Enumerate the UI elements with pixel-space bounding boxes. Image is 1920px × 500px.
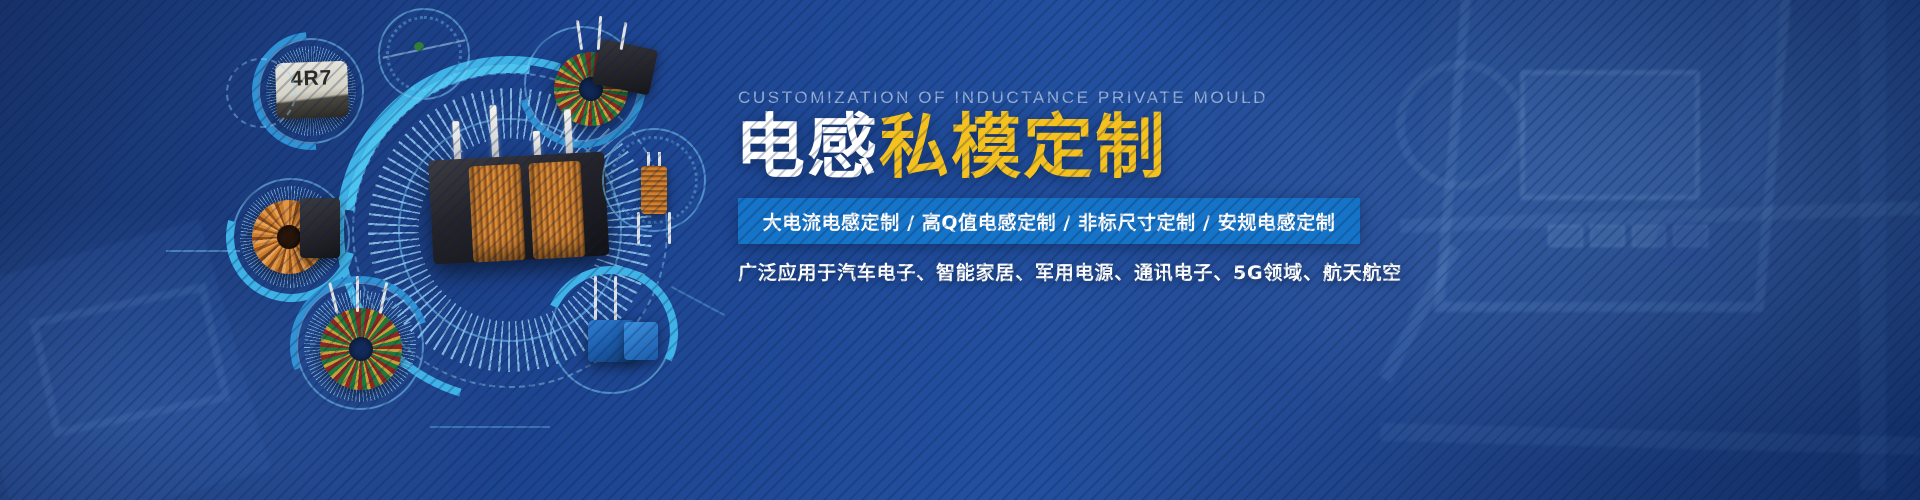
product-rod-core-inductor [641,152,667,226]
rod-copper-coil [641,166,667,214]
feature-bar: 大电流电感定制 / 高Q值电感定制 / 非标尺寸定制 / 安规电感定制 [738,198,1360,244]
smd-inductor-label: 4R7 [290,66,332,91]
toroid-clamp-block [300,198,340,258]
banner-description: 广泛应用于汽车电子、智能家居、军用电源、通讯电子、5G领域、航天航空 [738,258,1402,285]
banner-headline: 电感私模定制 [735,112,1167,182]
hud-trace [166,250,240,252]
blue-inductor-secondary [624,322,658,360]
feature-bar-text: 大电流电感定制 / 高Q值电感定制 / 非标尺寸定制 / 安规电感定制 [763,208,1336,235]
product-green-red-toroid-inductor [320,308,402,390]
hud-trace [671,286,725,316]
component-lead [614,276,617,324]
component-lead [637,212,640,244]
hud-trace [430,426,550,428]
component-lead [356,276,359,312]
headline-primary: 电感 [735,106,879,188]
banner-content: CUSTOMIZATION OF INDUCTANCE PRIVATE MOUL… [735,0,1885,500]
wire-bead [414,42,424,51]
promo-banner: 4R7 [0,0,1920,500]
component-lead [668,212,671,244]
toroid-winding-body [320,308,402,390]
product-collage: 4R7 [0,0,720,500]
headline-accent: 私模定制 [879,106,1167,188]
choke-copper-winding [528,161,585,260]
hud-ring-aux [226,58,296,128]
choke-copper-winding [469,164,526,263]
banner-eyebrow-english: CUSTOMIZATION OF INDUCTANCE PRIVATE MOUL… [738,88,1268,108]
product-common-mode-choke-hero [404,112,632,273]
component-lead [594,276,597,324]
